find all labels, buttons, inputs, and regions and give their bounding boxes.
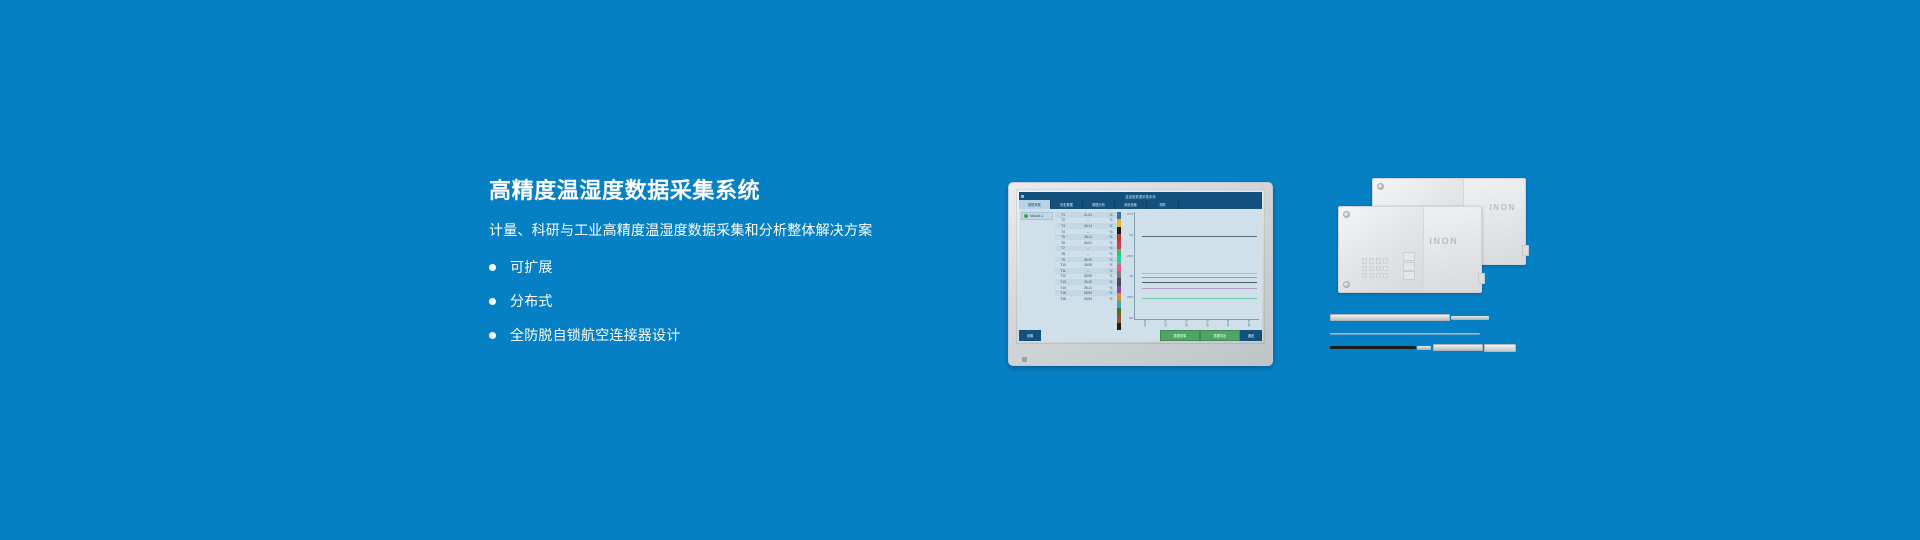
app-window-title: 温湿度数据采集系统 [1125, 194, 1156, 199]
chart-x-axis: 10:0010:2010:4011:0011:2011:40 [1134, 320, 1259, 330]
channel-name: T2 [1055, 218, 1071, 222]
export-data-button[interactable]: 数据导出 [1200, 330, 1240, 341]
channel-value: 21.01 [1071, 213, 1105, 217]
channel-unit: ℃ [1105, 286, 1117, 290]
channel-value: -- [1071, 246, 1105, 250]
device-tree-item[interactable]: Module-1 [1021, 212, 1053, 220]
channel-value: -- [1071, 218, 1105, 222]
channel-value: 26.14 [1071, 224, 1105, 228]
list-item: 分布式 [489, 292, 969, 310]
channel-name: T10 [1055, 263, 1071, 267]
exit-button[interactable]: 退出 [1240, 330, 1262, 341]
channel-value: 26.01 [1071, 241, 1105, 245]
channel-name: T3 [1055, 224, 1071, 228]
legend-swatch [1117, 301, 1121, 308]
channel-unit: ℃ [1105, 291, 1117, 295]
channel-unit: ℃ [1105, 235, 1117, 239]
channel-name: T13 [1055, 280, 1071, 284]
channel-value: -- [1071, 252, 1105, 256]
channel-unit: ℃ [1105, 218, 1117, 222]
channel-unit: ℃ [1105, 252, 1117, 256]
chart-x-tick: 11:00 [1205, 320, 1208, 326]
table-row[interactable]: T1225.90℃ [1055, 274, 1117, 280]
monitor-screen: 温湿度数据采集系统 数据采集 历史数据 数据分析 系统设置 帮助 Module-… [1019, 192, 1262, 341]
chart-series-line [1142, 277, 1256, 278]
product-banner: 高精度温湿度数据采集系统 计量、科研与工业高精度温湿度数据采集和分析整体解决方案… [0, 0, 1920, 540]
table-row[interactable]: T1426.11℃ [1055, 285, 1117, 291]
channel-unit: ℃ [1105, 258, 1117, 262]
app-title-bar: 温湿度数据采集系统 [1019, 192, 1262, 200]
table-row[interactable]: T121.01℃ [1055, 212, 1117, 218]
app-tab-bar: 数据采集 历史数据 数据分析 系统设置 帮助 [1019, 200, 1262, 209]
channel-name: T9 [1055, 258, 1071, 262]
connector-grid [1362, 258, 1388, 278]
device-name: Module-1 [1030, 214, 1043, 218]
chart-series-line [1142, 298, 1256, 299]
chart-series-line [1142, 282, 1256, 283]
app-body: Module-1 T121.01℃T2--℃T326.14℃T4--℃T526.… [1019, 209, 1262, 330]
channel-name: T11 [1055, 269, 1071, 273]
channel-value: 26.12 [1071, 235, 1105, 239]
probe-connector [1433, 344, 1483, 351]
table-row[interactable]: T11--℃ [1055, 268, 1117, 274]
chart-y-tick: 26.5 [1123, 254, 1133, 258]
acquisition-modules: INON INON [1322, 178, 1527, 293]
chart-series-line [1142, 288, 1256, 289]
table-row[interactable]: T8--℃ [1055, 251, 1117, 257]
list-item: 可扩展 [489, 258, 969, 276]
channel-name: T7 [1055, 246, 1071, 250]
module-connector-tab [1478, 273, 1485, 284]
tab-analysis[interactable]: 数据分析 [1083, 200, 1115, 209]
legend-swatch [1117, 212, 1121, 219]
legend-swatch [1117, 234, 1121, 241]
feature-list: 可扩展 分布式 全防脱自锁航空连接器设计 [489, 258, 969, 344]
channel-name: T12 [1055, 274, 1071, 278]
bullet-dot-icon [489, 264, 496, 271]
channel-name: T5 [1055, 235, 1071, 239]
bullet-dot-icon [489, 298, 496, 305]
channel-unit: ℃ [1105, 241, 1117, 245]
copy-block: 高精度温湿度数据采集系统 计量、科研与工业高精度温湿度数据采集和分析整体解决方案… [489, 178, 969, 344]
chart-x-tick: 11:20 [1226, 320, 1229, 326]
monitor-stand-foot [1022, 357, 1027, 362]
probe-cable [1330, 333, 1480, 335]
chart-series-line [1142, 236, 1256, 237]
app-system-icon [1021, 195, 1024, 198]
table-row[interactable]: T4--℃ [1055, 229, 1117, 235]
legend-swatch [1117, 249, 1121, 256]
legend-swatch [1117, 227, 1121, 234]
legend-swatch [1117, 315, 1121, 322]
channel-unit: ℃ [1105, 224, 1117, 228]
channel-value: 26.30 [1071, 258, 1105, 262]
legend-swatch [1117, 286, 1121, 293]
app-bottom-bar: 设置 数据采集 数据导出 退出 [1019, 330, 1262, 341]
chart-x-tick: 10:00 [1143, 320, 1146, 327]
probe-cable [1330, 346, 1416, 349]
tab-settings[interactable]: 系统设置 [1115, 200, 1147, 209]
channel-value: 25.94 [1071, 297, 1105, 301]
status-indicator-icon [1024, 214, 1028, 218]
channel-value: -- [1071, 269, 1105, 273]
legend-swatch [1117, 308, 1121, 315]
chart-y-tick: 27.5 [1123, 212, 1133, 216]
channel-unit: ℃ [1105, 230, 1117, 234]
brand-label: INON [1429, 236, 1458, 246]
list-item: 全防脱自锁航空连接器设计 [489, 326, 969, 344]
bottom-bar-spacer [1041, 330, 1160, 341]
tab-data-acquisition[interactable]: 数据采集 [1019, 200, 1051, 209]
probe-tip [1484, 344, 1516, 352]
settings-button[interactable]: 设置 [1019, 330, 1041, 341]
channel-unit: ℃ [1105, 246, 1117, 250]
legend-swatch [1117, 323, 1121, 330]
brand-label: INON [1489, 203, 1515, 212]
probe-ferrule [1451, 316, 1489, 320]
legend-swatch [1117, 256, 1121, 263]
chart-x-tick: 11:40 [1247, 320, 1250, 326]
feature-label: 全防脱自锁航空连接器设计 [510, 326, 680, 344]
bullet-dot-icon [489, 332, 496, 339]
chart-y-tick: 25 [1123, 316, 1133, 320]
screw-icon [1343, 211, 1350, 218]
feature-label: 可扩展 [510, 258, 553, 276]
channel-value: 26.08 [1071, 263, 1105, 267]
legend-swatch [1117, 242, 1121, 249]
channel-name: T6 [1055, 241, 1071, 245]
channel-table: T121.01℃T2--℃T326.14℃T4--℃T526.12℃T626.0… [1055, 209, 1117, 330]
probe-black-cable-connector [1330, 345, 1516, 350]
legend-swatch [1117, 293, 1121, 300]
table-row[interactable]: T1026.08℃ [1055, 262, 1117, 268]
start-acquisition-button[interactable]: 数据采集 [1160, 330, 1200, 341]
chart-plot-area [1134, 212, 1259, 320]
probe-stainless [1330, 315, 1489, 320]
chart-x-tick: 10:20 [1164, 320, 1167, 327]
trend-chart: 27.52726.52625.525 10:0010:2010:4011:001… [1123, 212, 1259, 330]
chart-y-tick: 27 [1123, 233, 1133, 237]
chart-series-line [1142, 273, 1256, 274]
table-row[interactable]: T926.30℃ [1055, 257, 1117, 263]
screw-icon [1343, 281, 1350, 288]
channel-name: T16 [1055, 297, 1071, 301]
chart-y-tick: 26 [1123, 274, 1133, 278]
table-row[interactable]: T1625.94℃ [1055, 296, 1117, 302]
legend-swatch [1117, 219, 1121, 226]
channel-unit: ℃ [1105, 297, 1117, 301]
channel-value: 26.11 [1071, 286, 1105, 290]
channel-unit: ℃ [1105, 269, 1117, 273]
page-title: 高精度温湿度数据采集系统 [489, 178, 969, 204]
channel-name: T8 [1055, 252, 1071, 256]
probe-ferrule [1417, 346, 1431, 350]
device-tree-panel: Module-1 [1019, 209, 1055, 330]
channel-unit: ℃ [1105, 263, 1117, 267]
channel-name: T14 [1055, 286, 1071, 290]
channel-value: 26.20 [1071, 280, 1105, 284]
table-row[interactable]: T1326.20℃ [1055, 279, 1117, 285]
legend-swatch [1117, 271, 1121, 278]
legend-swatch [1117, 278, 1121, 285]
port-group [1403, 252, 1415, 280]
channel-color-legend [1117, 212, 1121, 330]
table-row[interactable]: T326.14℃ [1055, 223, 1117, 229]
table-row[interactable]: T1526.90℃ [1055, 290, 1117, 296]
channel-name: T15 [1055, 291, 1071, 295]
legend-swatch [1117, 264, 1121, 271]
probe-shaft [1330, 314, 1450, 321]
table-row[interactable]: T2--℃ [1055, 218, 1117, 224]
acquisition-module-front: INON [1338, 206, 1482, 293]
table-row[interactable]: T7--℃ [1055, 246, 1117, 252]
channel-value: 25.90 [1071, 274, 1105, 278]
channel-unit: ℃ [1105, 274, 1117, 278]
channel-name: T4 [1055, 230, 1071, 234]
module-side-face [1423, 207, 1481, 292]
probe-blue-cable [1330, 331, 1480, 336]
chart-x-tick: 10:40 [1185, 320, 1188, 327]
module-connector-tab [1522, 245, 1529, 256]
table-row[interactable]: T626.01℃ [1055, 240, 1117, 246]
channel-value: 26.90 [1071, 291, 1105, 295]
channel-unit: ℃ [1105, 280, 1117, 284]
tab-history[interactable]: 历史数据 [1051, 200, 1083, 209]
sensor-probes [1330, 315, 1530, 363]
panel-pc-monitor: 温湿度数据采集系统 数据采集 历史数据 数据分析 系统设置 帮助 Module-… [1008, 182, 1273, 366]
chart-y-tick: 25.5 [1123, 295, 1133, 299]
page-subtitle: 计量、科研与工业高精度温湿度数据采集和分析整体解决方案 [489, 220, 969, 240]
channel-value: -- [1071, 230, 1105, 234]
table-row[interactable]: T526.12℃ [1055, 234, 1117, 240]
tab-help[interactable]: 帮助 [1147, 200, 1179, 209]
screw-icon [1377, 183, 1384, 190]
chart-y-axis: 27.52726.52625.525 [1123, 212, 1133, 320]
feature-label: 分布式 [510, 292, 553, 310]
channel-name: T1 [1055, 213, 1071, 217]
channel-unit: ℃ [1105, 213, 1117, 217]
